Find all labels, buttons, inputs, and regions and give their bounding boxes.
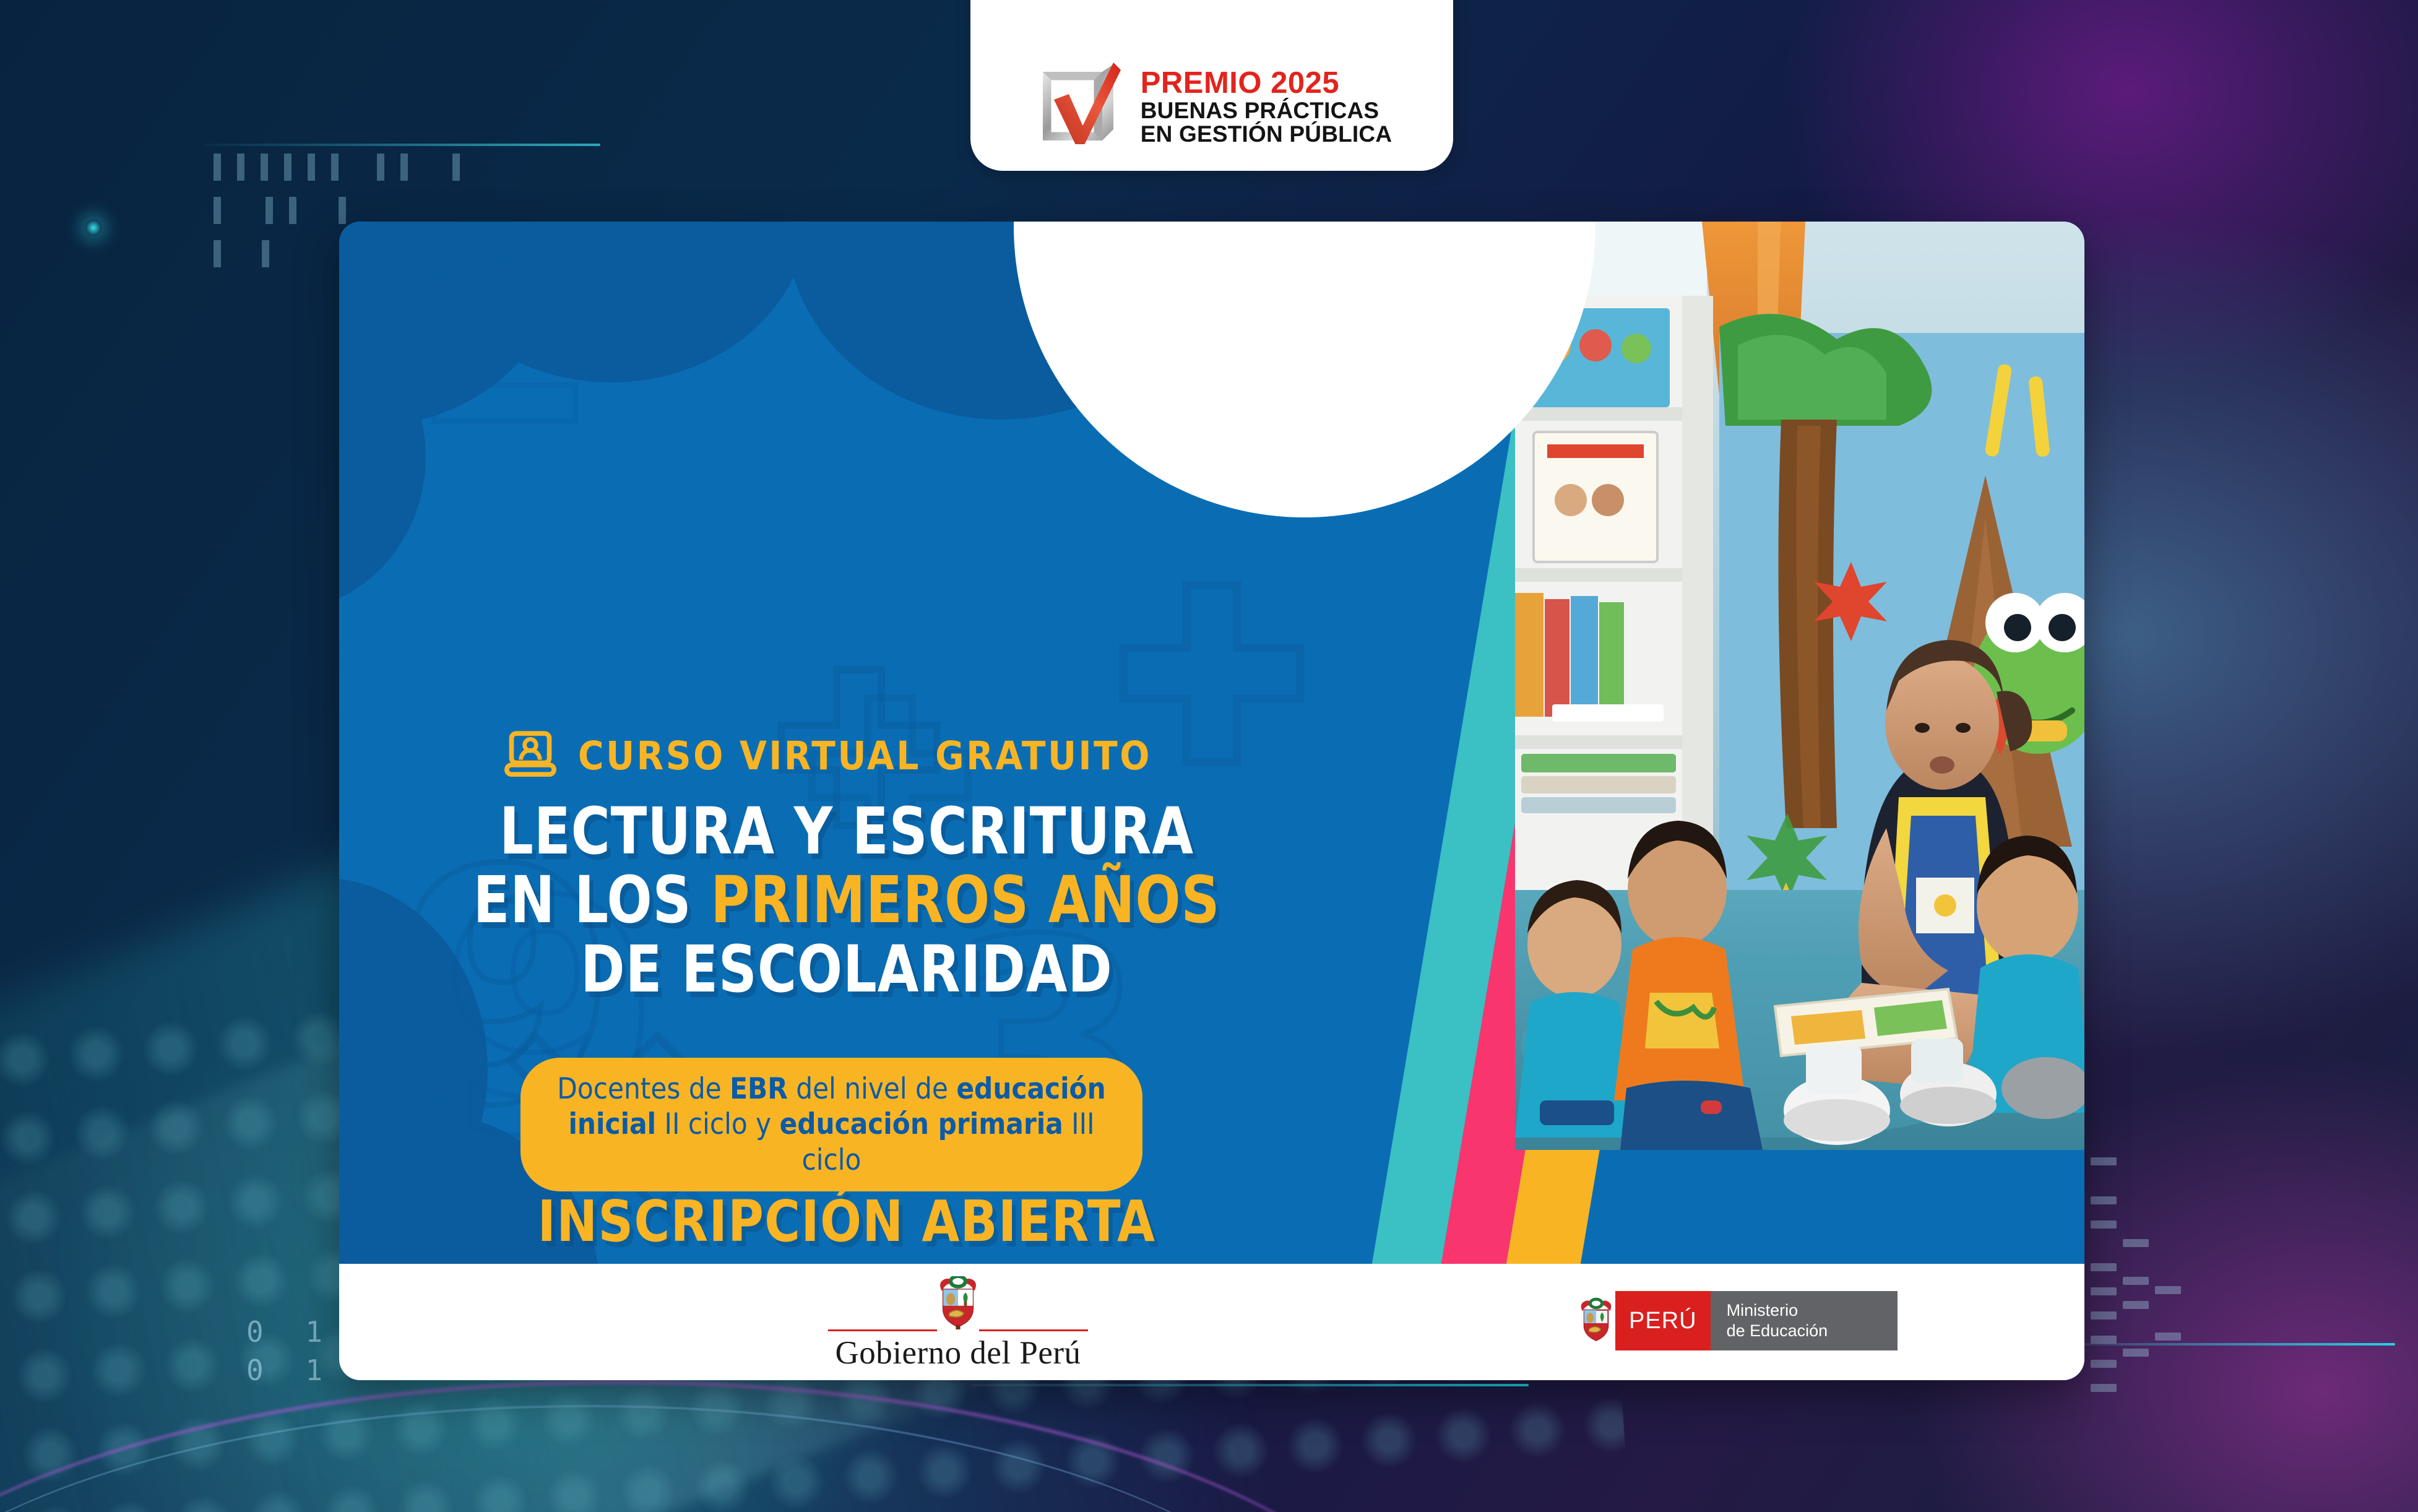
background-dash-column-1 — [2091, 1157, 2117, 1392]
card-footer: Gobierno del Perú PERÚ Ministerio — [339, 1264, 2084, 1380]
title-line-3: DE ESCOLARIDAD — [380, 935, 1314, 1004]
title-line-1: LECTURA Y ESCRITURA — [380, 797, 1314, 866]
minedu-logo: PERÚ Ministerio de Educación — [1577, 1291, 1898, 1350]
minedu-coat-of-arms-icon — [1577, 1291, 1615, 1350]
minedu-line-1: Ministerio — [1727, 1300, 1881, 1321]
audience-line-1: Docentes de EBR del nivel de educación — [546, 1071, 1116, 1107]
peru-coat-of-arms-icon — [936, 1276, 980, 1329]
award-badge: PREMIO 2025 BUENAS PRÁCTICAS EN GESTIÓN … — [970, 0, 1453, 171]
background-ticks-row-1 — [214, 153, 460, 181]
course-eyebrow-label: CURSO VIRTUAL GRATUITO — [578, 733, 1152, 779]
minedu-ministry-label: Ministerio de Educación — [1711, 1291, 1898, 1350]
background-dash-column-3 — [2155, 1286, 2181, 1341]
page-title: LECTURA Y ESCRITURA EN LOS PRIMEROS AÑOS… — [380, 797, 1314, 1004]
background-ticks-row-2 — [214, 197, 346, 224]
background-line-right — [2073, 1343, 2395, 1346]
minedu-peru-label: PERÚ — [1615, 1291, 1711, 1350]
audience-pill: Docentes de EBR del nivel de educación i… — [520, 1058, 1142, 1191]
gobierno-label: Gobierno del Perú — [835, 1334, 1081, 1372]
background-ticks-row-3 — [214, 240, 269, 267]
minedu-line-2: de Educación — [1727, 1321, 1881, 1341]
background-glow-dot — [85, 220, 101, 236]
card-content: CURSO VIRTUAL GRATUITO LECTURA Y ESCRITU… — [339, 222, 1354, 1150]
gobierno-divider-rules — [828, 1329, 1088, 1332]
checkmark-box-icon — [1032, 59, 1125, 155]
classroom-photo — [1515, 222, 2084, 1150]
background-line-top-left — [204, 144, 600, 146]
cta-text: INSCRIPCIÓN ABIERTA — [365, 1188, 1329, 1255]
laptop-person-icon — [504, 730, 557, 782]
badge-subtitle-1: BUENAS PRÁCTICAS — [1141, 99, 1393, 123]
badge-title: PREMIO 2025 — [1141, 67, 1393, 99]
promo-card: 9 9 3 2 2 — [339, 222, 2084, 1380]
course-eyebrow: CURSO VIRTUAL GRATUITO — [504, 730, 1152, 782]
gobierno-del-peru-logo: Gobierno del Perú — [828, 1276, 1088, 1372]
badge-subtitle-2: EN GESTIÓN PÚBLICA — [1141, 123, 1393, 146]
background-line-bottom — [972, 1384, 1529, 1386]
audience-line-2: inicial II ciclo y educación primaria II… — [546, 1107, 1116, 1178]
background-dash-column-2 — [2123, 1239, 2149, 1357]
title-line-2: EN LOS PRIMEROS AÑOS — [380, 866, 1314, 935]
